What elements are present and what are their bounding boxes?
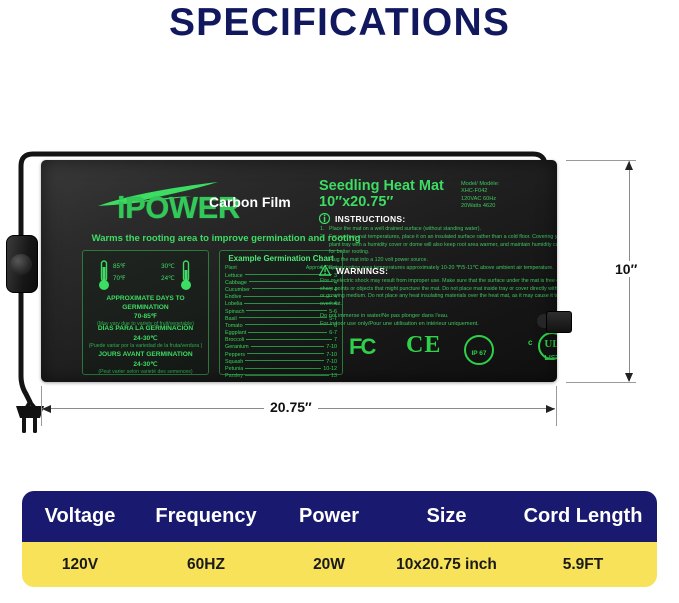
celsius-labels: 30℃ 24℃ — [145, 261, 175, 285]
warning-extra-line: Do not immerse in water/Ne pas plonger d… — [320, 312, 557, 320]
model-line: Model/ Modèle: — [461, 181, 499, 188]
temperature-panel: 85℉ 70℉ 30℃ 24℃ — [82, 250, 209, 375]
germination-plant: Peppers — [225, 352, 245, 358]
fcc-logo-icon: FC — [349, 334, 374, 360]
leader-dots — [246, 339, 332, 340]
germination-plant: Eggplant — [225, 330, 246, 336]
cord-connector — [546, 311, 572, 333]
model-line: 120VAC 60Hz — [461, 196, 499, 203]
germination-plant: Parsley — [225, 373, 243, 379]
spec-header-frequency: Frequency — [138, 505, 274, 528]
germination-plant: Tomato — [225, 323, 243, 329]
instruction-number: 1. — [320, 226, 326, 234]
leader-dots — [239, 317, 328, 318]
spec-table-header: VoltageFrequencyPowerSizeCord Length — [22, 491, 657, 542]
germination-plant: Lettuce — [225, 273, 243, 279]
germination-english: APPROXIMATE DAYS TO GERMINATION 70-85℉ (… — [83, 295, 208, 328]
specifications-page: SPECIFICATIONS iPOWER — [0, 0, 679, 603]
warnings-heading: WARNINGS: — [319, 265, 388, 276]
fahrenheit-labels: 85℉ 70℉ — [113, 261, 126, 285]
leader-dots — [244, 303, 332, 304]
warnings-body: Fire or electric shock may result from i… — [320, 278, 557, 308]
instruction-item: 3.Plug the mat into a 120 volt power sou… — [320, 257, 557, 265]
germination-plant: Endive — [225, 294, 241, 300]
germination-french: JOURS AVANT GERMINATION 24-30℃ (Peut var… — [83, 351, 208, 376]
heat-mat: iPOWER Carbon Film Warms the rooting are… — [41, 160, 557, 382]
model-line: XHC-F042 — [461, 188, 499, 195]
thermometer-fahrenheit-icon — [97, 259, 111, 293]
instruction-number: 3. — [320, 257, 326, 265]
model-info: Model/ Modèle:XHC-F042120VAC 60Hz20Watts… — [461, 181, 499, 211]
germination-plant: Cucumber — [225, 287, 250, 293]
warning-extra-line: For indoor use only/Pour une utilisation… — [320, 320, 557, 328]
page-title: SPECIFICATIONS — [0, 0, 679, 46]
leader-dots — [245, 368, 321, 369]
instruction-item: 1.Place the mat on a well drained surfac… — [320, 226, 557, 234]
instruction-text: Plug the mat into a 120 volt power sourc… — [329, 257, 428, 265]
instructions-heading: INSTRUCTIONS: — [319, 213, 405, 224]
germination-plant: Basil — [225, 316, 237, 322]
leader-dots — [246, 310, 327, 311]
leader-dots — [245, 324, 332, 325]
instruction-text: Place the mat on a well drained surface … — [329, 226, 481, 234]
spec-header-size: Size — [384, 505, 509, 528]
model-line: 20Watts 4620 — [461, 203, 499, 210]
spec-header-power: Power — [274, 505, 384, 528]
leader-dots — [245, 375, 329, 376]
ce-logo-icon: CE — [406, 332, 441, 359]
leader-dots — [243, 296, 332, 297]
spec-value-size: 10x20.75 inch — [384, 556, 509, 574]
germination-plant: Lobelia — [225, 301, 242, 307]
leader-dots — [245, 360, 324, 361]
carbon-film-label: Carbon Film — [209, 194, 291, 210]
instruction-text: For warmer mat temperatures, place it on… — [329, 234, 557, 257]
germination-plant: Broccoli — [225, 337, 244, 343]
germination-row: Parsley13 — [225, 373, 337, 380]
thermometer-celsius-icon — [179, 259, 193, 293]
certification-logos: FC CE IP 67 c UL US LISTED — [321, 330, 557, 368]
product-name: Seedling Heat Mat 10″x20.75″ — [319, 178, 444, 210]
plug-icon — [16, 402, 44, 433]
germination-plant: Geranium — [225, 344, 249, 350]
thermometer-row: 85℉ 70℉ 30℃ 24℃ — [83, 257, 208, 295]
warnings-extra: Do not immerse in water/Ne pas plonger d… — [320, 312, 557, 329]
product-photo: iPOWER Carbon Film Warms the rooting are… — [0, 46, 679, 466]
ip67-logo-icon: IP 67 — [464, 335, 494, 365]
leader-dots — [251, 346, 325, 347]
spec-value-power: 20W — [274, 556, 384, 574]
spec-table: VoltageFrequencyPowerSizeCord Length 120… — [22, 491, 657, 587]
info-icon — [319, 213, 330, 224]
spec-value-voltage: 120V — [22, 556, 138, 574]
leader-dots — [247, 353, 324, 354]
germination-spanish: DÍAS PARA LA GERMINACIÓN 24-30℃ (Puede v… — [83, 325, 208, 350]
instruction-item: 2.For warmer mat temperatures, place it … — [320, 234, 557, 257]
germination-plant: Cabbage — [225, 280, 247, 286]
spec-header-cord-length: Cord Length — [509, 505, 657, 528]
spec-value-frequency: 60HZ — [138, 556, 274, 574]
germination-plant: Spinach — [225, 309, 244, 315]
germination-plant: Petunia — [225, 366, 243, 372]
ul-listed-logo-icon: c UL US LISTED — [526, 330, 557, 364]
germination-plant: Squash — [225, 359, 243, 365]
mat-label: iPOWER Carbon Film Warms the rooting are… — [41, 160, 557, 382]
width-dimension-label: 20.75″ — [264, 399, 318, 415]
instruction-number: 2. — [320, 234, 326, 257]
spec-header-voltage: Voltage — [22, 505, 138, 528]
germination-days: 13 — [331, 373, 337, 379]
spec-table-row: 120V60HZ20W10x20.75 inch5.9FT — [22, 542, 657, 587]
warning-triangle-icon — [319, 265, 331, 276]
spec-value-cord-length: 5.9FT — [509, 556, 657, 574]
leader-dots — [248, 332, 327, 333]
height-dimension-label: 10″ — [609, 261, 643, 277]
switch-knob-icon — [10, 254, 32, 275]
